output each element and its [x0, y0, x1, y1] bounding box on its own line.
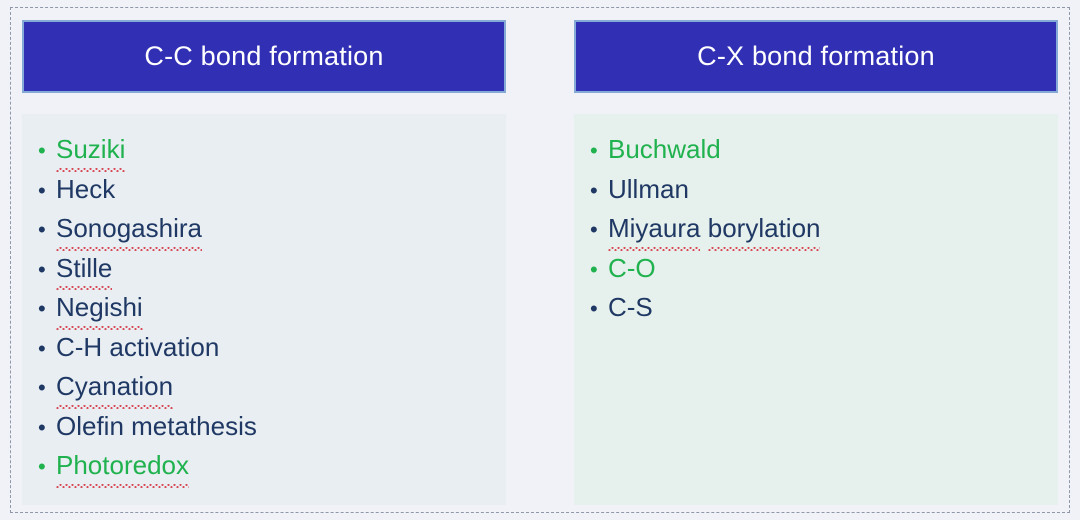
list-item-label: C-H activation	[56, 328, 219, 368]
panel-body-c-x[interactable]: •Buchwald•Ullman•Miyaura borylation•C-O•…	[574, 114, 1058, 505]
list-item[interactable]: •Ullman	[590, 170, 1058, 210]
list-item-label: Olefin metathesis	[56, 407, 257, 447]
list-item[interactable]: •Olefin metathesis	[38, 407, 506, 447]
spellcheck-underline: Negishi	[56, 288, 143, 328]
spellcheck-underline: Sonogashira	[56, 209, 202, 249]
list-item[interactable]: •Buchwald	[590, 130, 1058, 170]
list-item-label: Stille	[56, 249, 112, 289]
bullet-icon: •	[38, 329, 56, 369]
list-item[interactable]: •Heck	[38, 170, 506, 210]
spellcheck-underline: Miyaura	[608, 209, 700, 249]
bullet-icon: •	[38, 210, 56, 250]
panel-header-c-c[interactable]: C-C bond formation	[22, 20, 506, 93]
bullet-icon: •	[590, 210, 608, 250]
list-item[interactable]: •Sonogashira	[38, 209, 506, 249]
column-c-x: C-X bond formation •Buchwald•Ullman•Miya…	[574, 0, 1058, 520]
list-item[interactable]: •Cyanation	[38, 367, 506, 407]
bullet-icon: •	[38, 368, 56, 408]
list-item[interactable]: •Photoredox	[38, 446, 506, 486]
list-item[interactable]: •C-S	[590, 288, 1058, 328]
spellcheck-underline: Photoredox	[56, 446, 189, 486]
column-c-c: C-C bond formation •Suziki•Heck•Sonogash…	[22, 0, 506, 520]
panel-header-title-c-x: C-X bond formation	[697, 43, 935, 70]
list-item[interactable]: •C-H activation	[38, 328, 506, 368]
bullet-icon: •	[590, 131, 608, 171]
list-item-label: Cyanation	[56, 367, 173, 407]
bullet-icon: •	[590, 289, 608, 329]
list-item-label: Suziki	[56, 130, 125, 170]
bullet-icon: •	[38, 289, 56, 329]
panel-header-title-c-c: C-C bond formation	[144, 43, 383, 70]
panel-body-c-c[interactable]: •Suziki•Heck•Sonogashira•Stille•Negishi•…	[22, 114, 506, 505]
list-item-label: Sonogashira	[56, 209, 202, 249]
list-item-label: Buchwald	[608, 130, 721, 170]
reaction-list-c-x: •Buchwald•Ullman•Miyaura borylation•C-O•…	[590, 130, 1058, 328]
bullet-icon: •	[38, 250, 56, 290]
bullet-icon: •	[38, 408, 56, 448]
list-item-label: Negishi	[56, 288, 143, 328]
list-item-label: C-O	[608, 249, 656, 289]
bullet-icon: •	[38, 447, 56, 487]
list-item-label: Ullman	[608, 170, 689, 210]
list-item[interactable]: •Miyaura borylation	[590, 209, 1058, 249]
list-item-label: C-S	[608, 288, 653, 328]
list-item-label: Miyaura borylation	[608, 209, 820, 249]
list-item[interactable]: •Suziki	[38, 130, 506, 170]
slide-canvas: C-C bond formation •Suziki•Heck•Sonogash…	[0, 0, 1080, 520]
spellcheck-underline: borylation	[708, 209, 821, 249]
reaction-list-c-c: •Suziki•Heck•Sonogashira•Stille•Negishi•…	[38, 130, 506, 486]
bullet-icon: •	[38, 171, 56, 211]
list-item[interactable]: •Negishi	[38, 288, 506, 328]
panel-header-c-x[interactable]: C-X bond formation	[574, 20, 1058, 93]
list-item[interactable]: •Stille	[38, 249, 506, 289]
list-item-label: Heck	[56, 170, 115, 210]
spellcheck-underline: Suziki	[56, 130, 125, 170]
bullet-icon: •	[38, 131, 56, 171]
spellcheck-underline: Stille	[56, 249, 112, 289]
bullet-icon: •	[590, 250, 608, 290]
list-item[interactable]: •C-O	[590, 249, 1058, 289]
spellcheck-underline: Cyanation	[56, 367, 173, 407]
bullet-icon: •	[590, 171, 608, 211]
list-item-label: Photoredox	[56, 446, 189, 486]
